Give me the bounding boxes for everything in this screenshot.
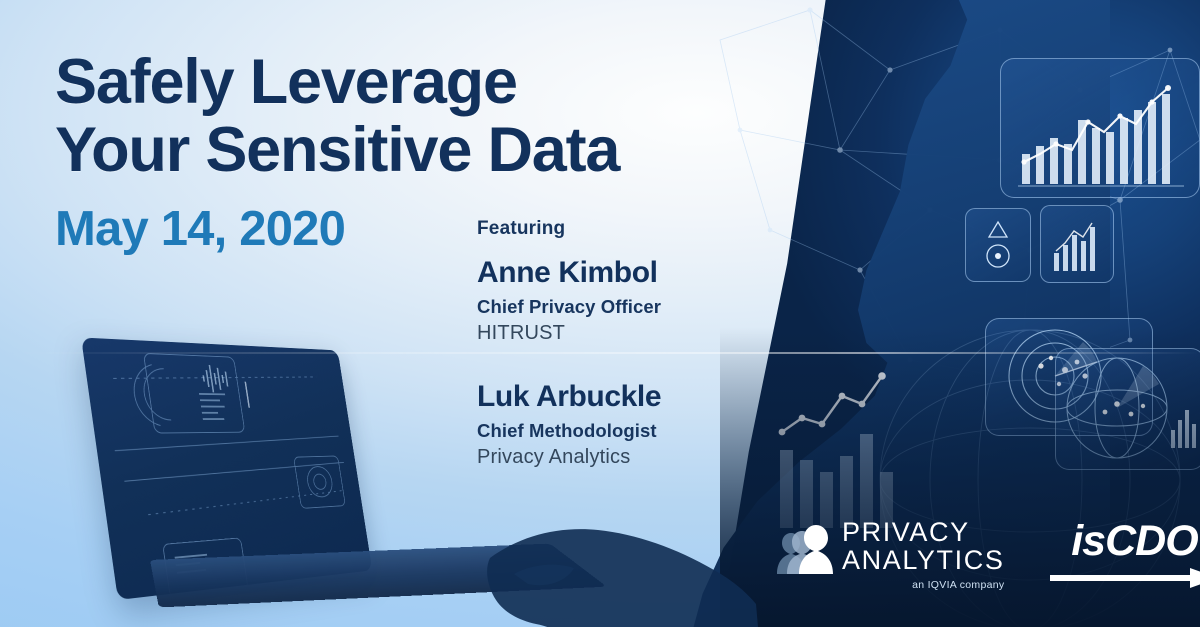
globe-radar-graphic bbox=[1055, 348, 1200, 470]
speakers-block: Featuring Anne Kimbol Chief Privacy Offi… bbox=[477, 218, 777, 469]
right-arrow-icon bbox=[1048, 567, 1200, 589]
headline-line-2: Your Sensitive Data bbox=[55, 116, 735, 184]
speaker-name: Anne Kimbol bbox=[477, 256, 777, 289]
torso-bar-chart-graphic bbox=[770, 360, 1000, 530]
speaker-org: HITRUST bbox=[477, 322, 777, 345]
logo-tagline: an IQVIA company bbox=[842, 579, 1004, 591]
headline-line-1: Safely Leverage bbox=[55, 48, 735, 116]
speaker-item: Luk Arbuckle Chief Methodologist Privacy… bbox=[477, 380, 777, 469]
speaker-title: Chief Privacy Officer bbox=[477, 296, 777, 318]
speaker-name: Luk Arbuckle bbox=[477, 380, 777, 413]
logo-line-privacy: PRIVACY bbox=[842, 518, 1004, 546]
privacy-analytics-wordmark: PRIVACY ANALYTICS an IQVIA company bbox=[842, 516, 1004, 591]
page-title: Safely Leverage Your Sensitive Data bbox=[55, 48, 735, 184]
speaker-title: Chief Methodologist bbox=[477, 420, 777, 442]
webinar-promo-banner: Safely Leverage Your Sensitive Data May … bbox=[0, 0, 1200, 627]
hand-on-keyboard-silhouette bbox=[470, 500, 770, 627]
featuring-label: Featuring bbox=[477, 218, 777, 240]
people-silhouette-icon bbox=[775, 520, 833, 574]
mini-bar-chart-icon bbox=[1040, 205, 1114, 283]
speaker-org: Privacy Analytics bbox=[477, 446, 777, 469]
bar-chart-with-trend-line bbox=[1000, 58, 1200, 198]
iscdo-wordmark: isCDO bbox=[1048, 520, 1200, 563]
event-date: May 14, 2020 bbox=[55, 205, 345, 254]
logo-line-analytics: ANALYTICS bbox=[842, 546, 1004, 574]
speaker-item: Anne Kimbol Chief Privacy Officer HITRUS… bbox=[477, 256, 777, 345]
logo-row: PRIVACY ANALYTICS an IQVIA company isCDO bbox=[775, 516, 1200, 594]
privacy-analytics-logo: PRIVACY ANALYTICS an IQVIA company bbox=[775, 516, 1004, 591]
speaker-divider-space bbox=[477, 345, 777, 380]
gauge-dial-icon bbox=[965, 208, 1031, 282]
iscdo-logo: isCDO bbox=[1048, 516, 1200, 594]
